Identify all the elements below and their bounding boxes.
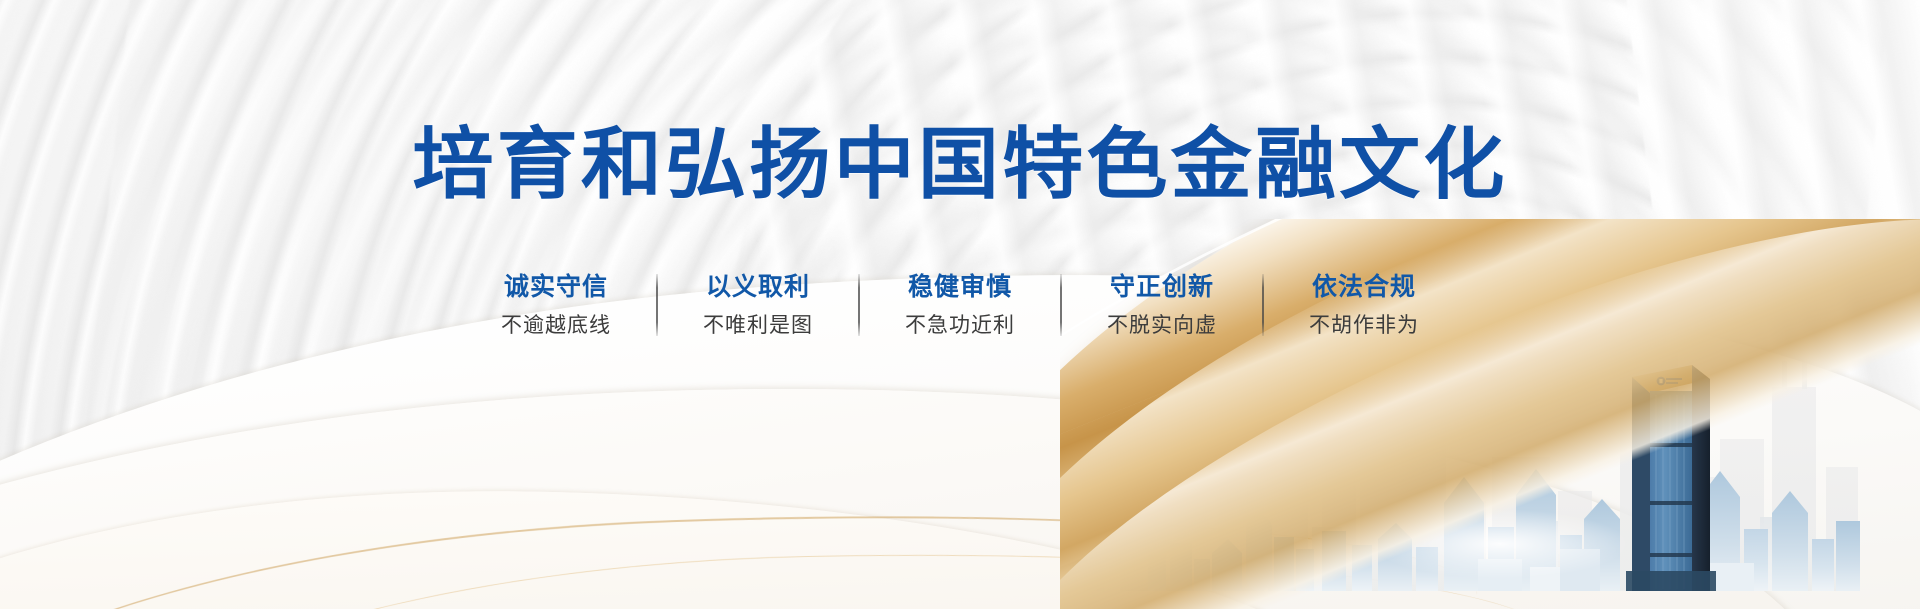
value-title: 诚实守信 [480, 272, 632, 302]
value-item-1: 诚实守信 不逾越底线 [480, 272, 632, 338]
value-item-5: 依法合规 不胡作非为 [1288, 272, 1440, 338]
value-subtitle: 不逾越底线 [480, 313, 632, 338]
value-title: 守正创新 [1086, 272, 1238, 302]
value-subtitle: 不胡作非为 [1288, 313, 1440, 338]
value-divider-3 [1060, 274, 1062, 336]
value-divider-1 [656, 274, 658, 336]
banner: 培育和弘扬中国特色金融文化 诚实守信 不逾越底线 以义取利 不唯利是图 稳健审慎… [0, 0, 1920, 609]
page-title: 培育和弘扬中国特色金融文化 [0, 126, 1920, 204]
banner-content: 培育和弘扬中国特色金融文化 诚实守信 不逾越底线 以义取利 不唯利是图 稳健审慎… [0, 0, 1920, 609]
value-divider-2 [858, 274, 860, 336]
value-item-2: 以义取利 不唯利是图 [682, 272, 834, 338]
value-item-3: 稳健审慎 不急功近利 [884, 272, 1036, 338]
value-divider-4 [1262, 274, 1264, 336]
value-subtitle: 不唯利是图 [682, 313, 834, 338]
value-subtitle: 不急功近利 [884, 313, 1036, 338]
value-title: 依法合规 [1288, 272, 1440, 302]
value-title: 稳健审慎 [884, 272, 1036, 302]
value-title: 以义取利 [682, 272, 834, 302]
value-subtitle: 不脱实向虚 [1086, 313, 1238, 338]
value-item-4: 守正创新 不脱实向虚 [1086, 272, 1238, 338]
core-values-list: 诚实守信 不逾越底线 以义取利 不唯利是图 稳健审慎 不急功近利 守正创新 不脱… [0, 272, 1920, 338]
